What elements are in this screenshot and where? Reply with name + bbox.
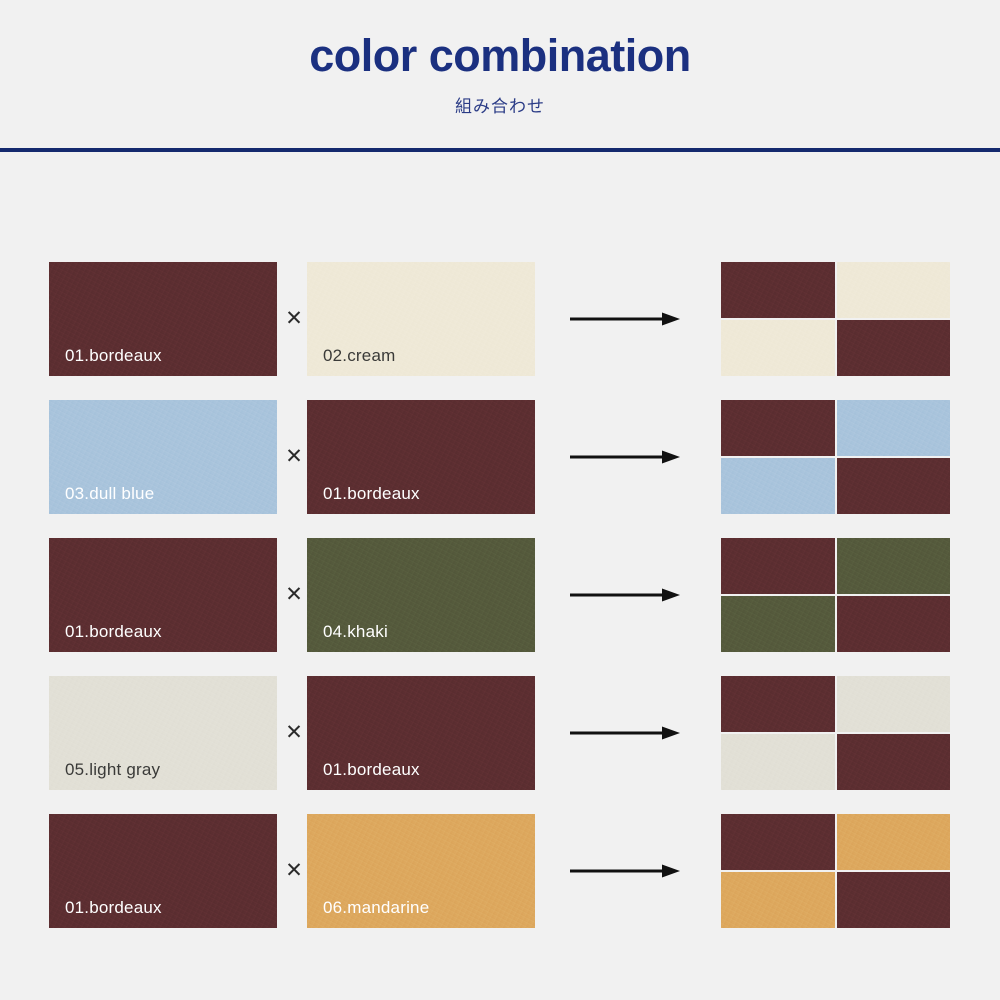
multiply-icon: ✕ [283,722,305,744]
swatch-label: 01.bordeaux [323,484,420,504]
swatch-label: 01.bordeaux [323,760,420,780]
result-cell [721,814,835,870]
result-cell-grain [721,538,835,594]
swatch-left: 05.light gray [49,676,277,790]
swatch-label: 01.bordeaux [65,622,162,642]
result-cell [837,676,951,732]
result-cell [721,676,835,732]
result-cell-grain [721,872,835,928]
result-cell [721,872,835,928]
result-cell-grain [837,814,951,870]
combination-row: 03.dull blue ✕ 01.bordeaux [0,400,1000,514]
result-cell [837,814,951,870]
result-cell-grain [837,734,951,790]
page-subtitle: 組み合わせ [0,92,1000,117]
result-cell-grain [837,538,951,594]
result-cell [837,872,951,928]
arrow-right-icon [570,312,680,326]
result-cell-grain [721,458,835,514]
combination-row: 05.light gray ✕ 01.bordeaux [0,676,1000,790]
multiply-icon: ✕ [283,584,305,606]
arrow-right-icon [570,450,680,464]
result-cell [837,262,951,318]
result-cell-grain [721,262,835,318]
swatch-right: 04.khaki [307,538,535,652]
result-cell-grain [837,262,951,318]
swatch-label: 01.bordeaux [65,346,162,366]
result-swatch [721,400,950,514]
result-cell [721,262,835,318]
multiply-icon: ✕ [283,860,305,882]
swatch-label: 06.mandarine [323,898,429,918]
swatch-left: 01.bordeaux [49,814,277,928]
swatch-right: 06.mandarine [307,814,535,928]
result-cell [837,320,951,376]
result-cell [721,400,835,456]
result-cell-grain [721,734,835,790]
swatch-right: 02.cream [307,262,535,376]
arrow-right-icon [570,588,680,602]
result-cell [721,596,835,652]
swatch-label: 05.light gray [65,760,160,780]
multiply-icon: ✕ [283,446,305,468]
result-cell-grain [837,872,951,928]
result-cell [837,734,951,790]
result-cell [837,458,951,514]
result-cell-grain [837,320,951,376]
page-title: color combination [0,30,1000,82]
result-swatch [721,814,950,928]
result-cell [721,320,835,376]
combination-list: 01.bordeaux ✕ 02.cream [0,262,1000,928]
result-cell-grain [721,400,835,456]
combination-row: 01.bordeaux ✕ 04.khaki [0,538,1000,652]
result-cell-grain [837,458,951,514]
result-swatch [721,538,950,652]
result-cell [837,596,951,652]
arrow-right-icon [570,864,680,878]
result-cell-grain [721,596,835,652]
result-cell [837,400,951,456]
result-swatch [721,676,950,790]
swatch-left: 01.bordeaux [49,538,277,652]
result-cell [837,538,951,594]
result-cell-grain [837,596,951,652]
swatch-label: 01.bordeaux [65,898,162,918]
combination-row: 01.bordeaux ✕ 06.mandarine [0,814,1000,928]
swatch-label: 04.khaki [323,622,388,642]
result-cell-grain [721,814,835,870]
result-cell [721,538,835,594]
swatch-label: 03.dull blue [65,484,154,504]
swatch-label: 02.cream [323,346,395,366]
swatch-left: 01.bordeaux [49,262,277,376]
swatch-right: 01.bordeaux [307,676,535,790]
result-cell [721,734,835,790]
result-cell [721,458,835,514]
multiply-icon: ✕ [283,308,305,330]
page-header: color combination 組み合わせ [0,0,1000,152]
swatch-left: 03.dull blue [49,400,277,514]
arrow-right-icon [570,726,680,740]
swatch-right: 01.bordeaux [307,400,535,514]
result-cell-grain [837,400,951,456]
result-swatch [721,262,950,376]
result-cell-grain [721,320,835,376]
header-divider [0,148,1000,152]
combination-row: 01.bordeaux ✕ 02.cream [0,262,1000,376]
result-cell-grain [721,676,835,732]
result-cell-grain [837,676,951,732]
